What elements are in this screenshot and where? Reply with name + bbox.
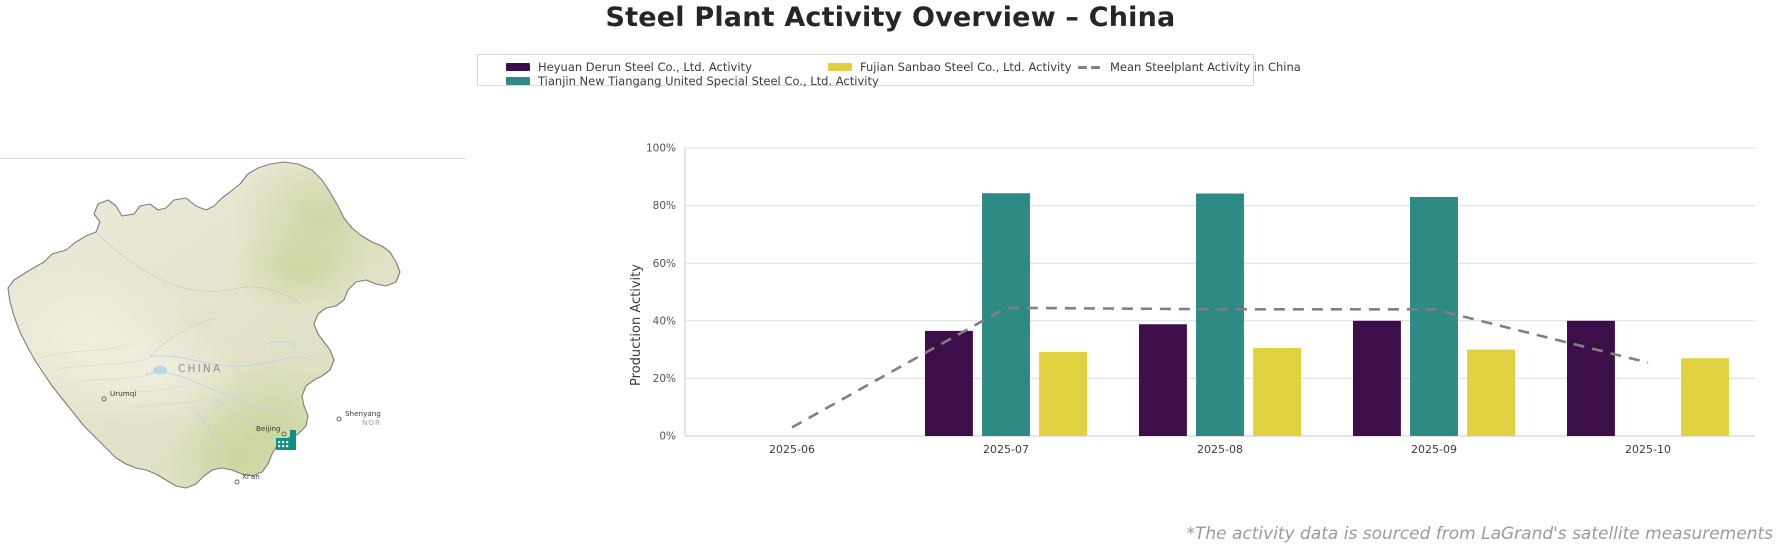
bar[interactable] bbox=[1567, 321, 1615, 436]
map-country-label: CHINA bbox=[178, 363, 222, 375]
data-source-footnote: *The activity data is sourced from LaGra… bbox=[1186, 524, 1773, 544]
bar[interactable] bbox=[1681, 358, 1729, 436]
dashed-line-icon bbox=[1078, 63, 1102, 71]
y-axis-title: Production Activity bbox=[629, 264, 644, 386]
map-lake bbox=[153, 366, 167, 374]
china-map[interactable]: CHINA NOR Urumqi Shenyang Beijing Xi'an bbox=[0, 158, 470, 498]
map-city-label-beijing: Beijing bbox=[256, 424, 280, 433]
legend-swatch-tianjin-new-tiangang bbox=[506, 77, 530, 85]
legend-item-tianjin-new-tiangang[interactable]: Tianjin New Tiangang United Special Stee… bbox=[506, 74, 879, 88]
y-tick-label: 20% bbox=[653, 373, 676, 385]
bar[interactable] bbox=[1353, 321, 1401, 436]
legend-item-fujian-sanbao[interactable]: Fujian Sanbao Steel Co., Ltd. Activity bbox=[828, 60, 1072, 74]
y-tick-label: 40% bbox=[653, 315, 676, 327]
activity-bar-chart[interactable]: Production Activity 0%20%40%60%80%100% 2… bbox=[600, 140, 1760, 500]
bar[interactable] bbox=[1467, 350, 1515, 436]
legend-item-heyuan-derun[interactable]: Heyuan Derun Steel Co., Ltd. Activity bbox=[506, 60, 752, 74]
legend-item-mean-steelplant-activity[interactable]: Mean Steelplant Activity in China bbox=[1078, 60, 1301, 74]
bar[interactable] bbox=[1253, 348, 1301, 436]
chart-bars[interactable] bbox=[925, 193, 1729, 436]
map-terrain bbox=[0, 158, 470, 498]
x-tick-label: 2025-07 bbox=[983, 443, 1029, 456]
map-city-label-shenyang: Shenyang bbox=[345, 409, 381, 418]
x-tick-label: 2025-09 bbox=[1411, 443, 1457, 456]
bar[interactable] bbox=[1039, 352, 1087, 436]
y-tick-label: 0% bbox=[659, 431, 676, 443]
y-tick-label: 100% bbox=[646, 143, 676, 155]
bar[interactable] bbox=[925, 331, 973, 436]
china-map-panel[interactable]: CHINA NOR Urumqi Shenyang Beijing Xi'an bbox=[0, 158, 470, 498]
page-title: Steel Plant Activity Overview – China bbox=[0, 2, 1781, 33]
bar[interactable] bbox=[982, 193, 1030, 436]
bar[interactable] bbox=[1410, 197, 1458, 436]
map-city-xian[interactable]: Xi'an bbox=[235, 472, 260, 484]
x-tick-label: 2025-10 bbox=[1625, 443, 1671, 456]
legend-label-tianjin-new-tiangang: Tianjin New Tiangang United Special Stee… bbox=[538, 74, 879, 88]
legend-swatch-heyuan-derun bbox=[506, 63, 530, 71]
map-region-label: NOR bbox=[362, 418, 381, 427]
legend-label-fujian-sanbao: Fujian Sanbao Steel Co., Ltd. Activity bbox=[860, 60, 1072, 74]
x-tick-label: 2025-06 bbox=[769, 443, 815, 456]
bar[interactable] bbox=[1196, 194, 1244, 436]
map-city-label-xian: Xi'an bbox=[242, 472, 260, 481]
y-axis-ticks: 0%20%40%60%80%100% bbox=[646, 143, 676, 443]
map-city-label-urumqi: Urumqi bbox=[110, 389, 136, 398]
legend-swatch-fujian-sanbao bbox=[828, 63, 852, 71]
y-tick-label: 60% bbox=[653, 258, 676, 270]
bar[interactable] bbox=[1139, 324, 1187, 436]
x-axis-ticks: 2025-062025-072025-082025-092025-10 bbox=[769, 443, 1671, 456]
x-tick-label: 2025-08 bbox=[1197, 443, 1243, 456]
legend-label-heyuan-derun: Heyuan Derun Steel Co., Ltd. Activity bbox=[538, 60, 752, 74]
y-tick-label: 80% bbox=[653, 200, 676, 212]
chart-legend: Heyuan Derun Steel Co., Ltd. Activity Ti… bbox=[477, 54, 1254, 86]
chart-svg[interactable]: Production Activity 0%20%40%60%80%100% 2… bbox=[600, 140, 1760, 500]
legend-label-mean-steelplant-activity: Mean Steelplant Activity in China bbox=[1110, 60, 1301, 74]
